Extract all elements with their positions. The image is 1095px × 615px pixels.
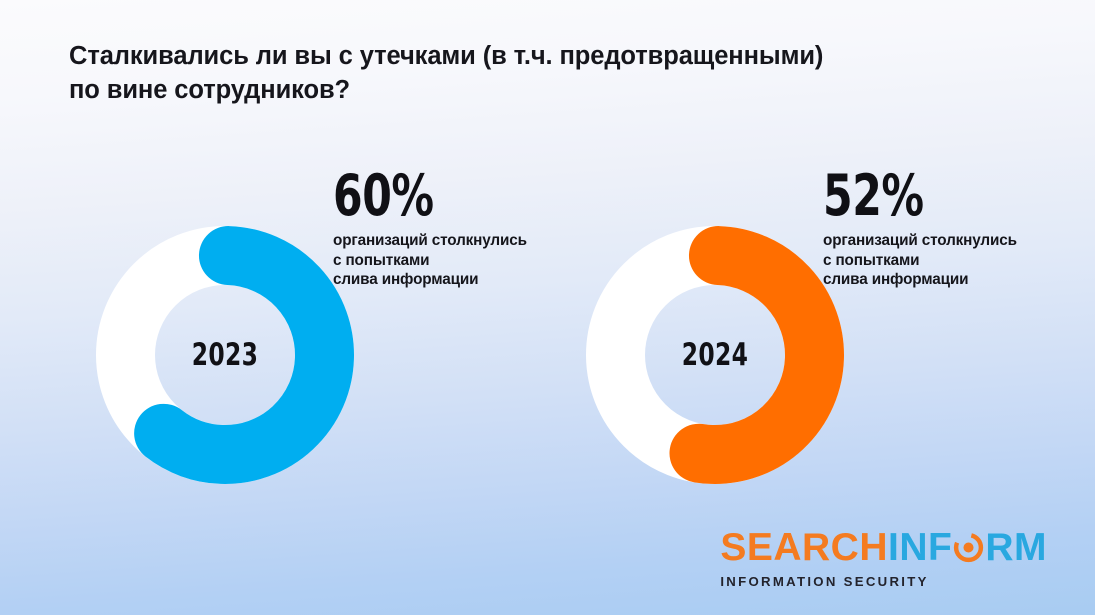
logo-wordmark: SEARCHINF RM xyxy=(720,528,1047,567)
donut-graphic-2023: 2023 xyxy=(96,226,354,484)
logo-text-rm: RM xyxy=(985,528,1047,567)
donut-svg-2024 xyxy=(586,226,844,484)
percent-description-2023: организаций столкнулись с попытками слив… xyxy=(333,231,613,289)
percent-value-2024: 52% xyxy=(823,170,1055,222)
infographic-slide: Сталкивались ли вы с утечками (в т.ч. пр… xyxy=(0,0,1095,615)
page-title: Сталкивались ли вы с утечками (в т.ч. пр… xyxy=(69,40,969,107)
percent-value-2023: 60% xyxy=(333,170,565,222)
percent-description-2024: организаций столкнулись с попытками слив… xyxy=(823,231,1095,289)
logo-text-search: SEARCH xyxy=(720,528,888,567)
target-o-icon xyxy=(953,532,984,563)
searchinform-logo: SEARCHINF RM INFORMATION SECURITY xyxy=(720,528,1047,589)
logo-tagline: INFORMATION SECURITY xyxy=(720,574,1047,589)
donut-svg-2023 xyxy=(96,226,354,484)
callout-2024: 52% организаций столкнулись с попытками … xyxy=(823,170,1095,289)
donut-graphic-2024: 2024 xyxy=(586,226,844,484)
callout-2023: 60% организаций столкнулись с попытками … xyxy=(333,170,613,289)
logo-text-inf: INF xyxy=(888,528,952,567)
